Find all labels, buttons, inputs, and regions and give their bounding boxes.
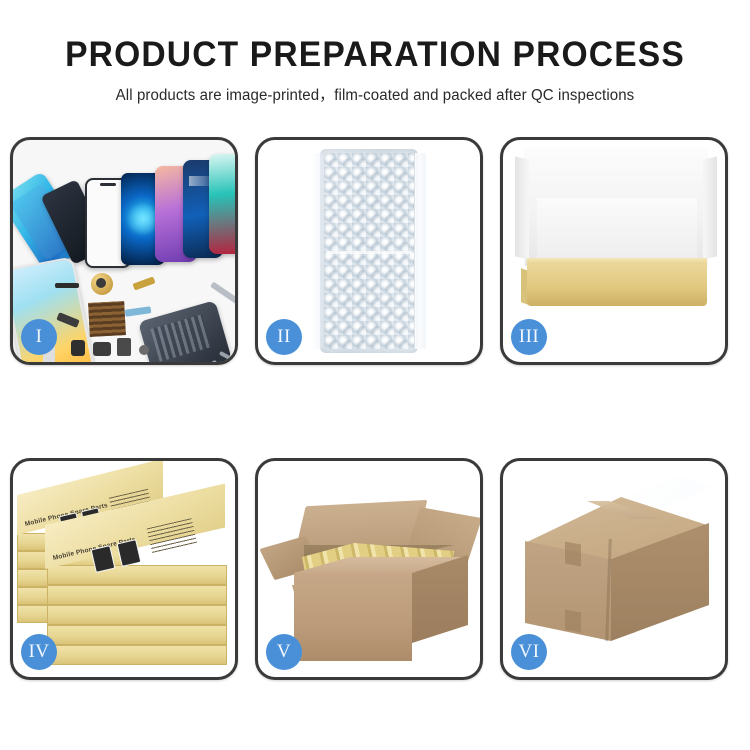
sim-tray-icon (71, 340, 85, 356)
flex-cable-gold-icon (132, 276, 155, 290)
chip-array-icon (88, 301, 126, 337)
step-panel-2: II (255, 137, 483, 365)
flex-cable-blue-icon (125, 306, 152, 317)
earpiece-mesh-icon (55, 283, 79, 288)
retail-box-front-5 (47, 565, 227, 585)
retail-box-front-1 (47, 645, 227, 665)
phone-backplate-icon (138, 300, 232, 362)
step-panel-4: Mobile Phone Spare Parts Mobile Phone Sp… (10, 458, 238, 680)
step-panel-5: V (255, 458, 483, 680)
carton-front-face (294, 573, 412, 661)
step-badge-3: III (511, 319, 547, 355)
step-badge-1: I (21, 319, 57, 355)
screw-icon (139, 345, 149, 355)
process-steps-grid: I II (10, 137, 740, 680)
retail-box-front-4 (47, 585, 227, 605)
step-badge-5: V (266, 634, 302, 670)
step-panel-6: VI (500, 458, 728, 680)
bubble-wrap-edge-right (415, 153, 426, 349)
step-panel-3: III (500, 137, 728, 365)
kraft-box-base-icon (527, 264, 707, 306)
tweezers-icon (210, 282, 235, 305)
phone-teal-icon (209, 154, 235, 254)
speaker-module-icon (93, 342, 111, 356)
bubble-wrap-edge-left (312, 153, 323, 349)
page-title: PRODUCT PREPARATION PROCESS (15, 34, 735, 76)
bubble-wrap-seam (326, 251, 412, 254)
step-badge-6: VI (511, 634, 547, 670)
header: PRODUCT PREPARATION PROCESS All products… (0, 0, 750, 105)
vibration-motor-icon (91, 273, 113, 295)
retail-box-front-3 (47, 605, 227, 625)
step-panel-1: I (10, 137, 238, 365)
step-badge-2: II (266, 319, 302, 355)
step-badge-4: IV (21, 634, 57, 670)
carton-flap-tab-lower (565, 609, 581, 632)
camera-module-icon (117, 338, 131, 356)
carton-flap-tab-upper (565, 541, 581, 566)
bubble-wrap-icon (320, 149, 418, 353)
page-subtitle: All products are image-printed，film-coat… (11, 83, 739, 105)
foam-sheet-icon (537, 198, 697, 264)
retail-box-front-2 (47, 625, 227, 645)
product-preparation-infographic: PRODUCT PREPARATION PROCESS All products… (0, 0, 750, 750)
